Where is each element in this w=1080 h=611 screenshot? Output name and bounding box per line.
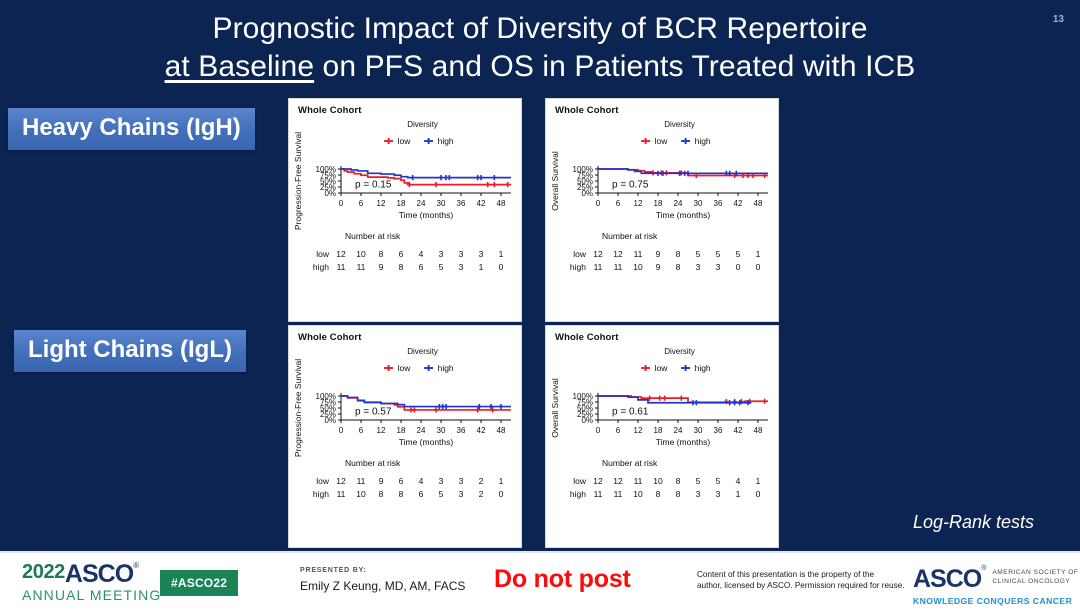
svg-text:high: high <box>570 489 586 499</box>
svg-text:24: 24 <box>417 199 426 208</box>
svg-text:24: 24 <box>674 199 683 208</box>
svg-text:Diversity: Diversity <box>407 347 438 356</box>
title-line-1: Prognostic Impact of Diversity of BCR Re… <box>0 10 1080 48</box>
asco-subtitle: ANNUAL MEETING <box>22 588 161 602</box>
svg-text:10: 10 <box>653 476 663 486</box>
svg-text:12: 12 <box>634 426 643 435</box>
svg-text:12: 12 <box>593 249 603 259</box>
svg-text:0: 0 <box>756 262 761 272</box>
svg-text:Number at risk: Number at risk <box>345 458 401 468</box>
svg-text:4: 4 <box>419 249 424 259</box>
svg-text:6: 6 <box>399 476 404 486</box>
chart-canvas-igl-pfs: Diversitylowhigh0%25%50%75%100%061218243… <box>289 326 521 547</box>
svg-text:3: 3 <box>716 262 721 272</box>
section-label-light-chains: Light Chains (IgL) <box>14 330 246 372</box>
title-line-2: at Baseline on PFS and OS in Patients Tr… <box>0 48 1080 86</box>
svg-text:12: 12 <box>634 199 643 208</box>
svg-text:1: 1 <box>736 489 741 499</box>
svg-text:0: 0 <box>499 262 504 272</box>
svg-text:0: 0 <box>596 199 601 208</box>
svg-text:6: 6 <box>419 262 424 272</box>
svg-text:12: 12 <box>377 426 386 435</box>
asco-tagline: KNOWLEDGE CONQUERS CANCER <box>913 596 1078 606</box>
svg-text:high: high <box>570 262 586 272</box>
svg-text:3: 3 <box>716 489 721 499</box>
svg-text:1: 1 <box>499 476 504 486</box>
svg-text:9: 9 <box>379 476 384 486</box>
svg-text:p = 0.61: p = 0.61 <box>612 407 649 418</box>
svg-text:Overall Survival: Overall Survival <box>550 378 560 438</box>
svg-text:1: 1 <box>499 249 504 259</box>
svg-text:3: 3 <box>459 489 464 499</box>
svg-text:30: 30 <box>437 426 446 435</box>
svg-text:Time (months): Time (months) <box>399 210 454 220</box>
svg-text:48: 48 <box>754 426 763 435</box>
svg-text:6: 6 <box>616 426 621 435</box>
svg-text:Diversity: Diversity <box>664 347 695 356</box>
svg-text:100%: 100% <box>316 392 336 401</box>
svg-text:5: 5 <box>696 249 701 259</box>
svg-text:8: 8 <box>676 249 681 259</box>
svg-text:18: 18 <box>654 199 663 208</box>
registered-mark-icon: ® <box>133 561 139 570</box>
svg-text:11: 11 <box>594 262 603 272</box>
svg-text:low: low <box>573 249 587 259</box>
svg-text:42: 42 <box>477 199 486 208</box>
svg-text:Progression-Free Survival: Progression-Free Survival <box>293 132 303 230</box>
svg-text:0: 0 <box>756 489 761 499</box>
svg-text:10: 10 <box>356 249 366 259</box>
svg-text:8: 8 <box>676 489 681 499</box>
svg-text:0: 0 <box>736 262 741 272</box>
svg-text:36: 36 <box>714 426 723 435</box>
svg-text:p = 0.75: p = 0.75 <box>612 180 649 191</box>
svg-text:4: 4 <box>736 476 741 486</box>
svg-text:48: 48 <box>497 426 506 435</box>
svg-text:12: 12 <box>593 476 603 486</box>
title-underlined-phrase: at Baseline <box>165 50 315 83</box>
svg-text:3: 3 <box>459 249 464 259</box>
svg-text:12: 12 <box>336 249 346 259</box>
asco-society-name: AMERICAN SOCIETY OFCLINICAL ONCOLOGY <box>992 565 1078 586</box>
svg-text:11: 11 <box>634 249 643 259</box>
presented-by-block: PRESENTED BY: Emily Z Keung, MD, AM, FAC… <box>300 567 465 593</box>
svg-text:4: 4 <box>419 476 424 486</box>
svg-text:36: 36 <box>457 426 466 435</box>
svg-text:high: high <box>695 136 711 146</box>
svg-text:9: 9 <box>656 262 661 272</box>
svg-text:18: 18 <box>397 426 406 435</box>
svg-text:42: 42 <box>734 199 743 208</box>
svg-text:18: 18 <box>397 199 406 208</box>
svg-text:24: 24 <box>674 426 683 435</box>
svg-text:6: 6 <box>399 249 404 259</box>
svg-text:low: low <box>398 136 412 146</box>
chart-panel-igl-pfs: Whole Cohort Diversitylowhigh0%25%50%75%… <box>288 325 522 548</box>
society-line-1: AMERICAN SOCIETY OF <box>992 569 1078 576</box>
asco-wordmark: ASCO <box>913 565 981 593</box>
svg-text:Number at risk: Number at risk <box>345 231 401 241</box>
svg-text:3: 3 <box>439 249 444 259</box>
svg-text:5: 5 <box>696 476 701 486</box>
svg-text:24: 24 <box>417 426 426 435</box>
svg-text:8: 8 <box>399 262 404 272</box>
svg-text:11: 11 <box>594 489 603 499</box>
svg-text:11: 11 <box>614 489 623 499</box>
svg-text:3: 3 <box>459 476 464 486</box>
svg-text:Number at risk: Number at risk <box>602 231 658 241</box>
svg-text:1: 1 <box>756 249 761 259</box>
presented-by-label: PRESENTED BY: <box>300 567 465 574</box>
svg-text:6: 6 <box>419 489 424 499</box>
svg-text:30: 30 <box>694 426 703 435</box>
svg-text:42: 42 <box>734 426 743 435</box>
svg-text:48: 48 <box>497 199 506 208</box>
copyright-line-2: author, licensed by ASCO. Permission req… <box>697 580 905 591</box>
svg-text:5: 5 <box>439 489 444 499</box>
chart-canvas-igh-os: Diversitylowhigh0%25%50%75%100%061218243… <box>546 99 778 321</box>
svg-text:6: 6 <box>359 426 364 435</box>
svg-text:10: 10 <box>356 489 366 499</box>
svg-text:10: 10 <box>633 262 643 272</box>
slide-page-number: 13 <box>1053 14 1064 25</box>
asco-year: 2022 <box>22 561 65 583</box>
svg-text:11: 11 <box>357 262 366 272</box>
svg-text:2: 2 <box>479 489 484 499</box>
svg-text:100%: 100% <box>573 165 593 174</box>
svg-text:0: 0 <box>339 426 344 435</box>
svg-text:high: high <box>695 363 711 373</box>
svg-text:low: low <box>655 363 669 373</box>
society-line-2: CLINICAL ONCOLOGY <box>992 578 1070 585</box>
svg-text:low: low <box>398 363 412 373</box>
svg-text:high: high <box>438 363 454 373</box>
svg-text:11: 11 <box>634 476 643 486</box>
chart-panel-igh-os: Whole Cohort Diversitylowhigh0%25%50%75%… <box>545 98 779 322</box>
asco-wordmark: ASCO <box>65 560 133 588</box>
presenter-name: Emily Z Keung, MD, AM, FACS <box>300 579 465 593</box>
svg-text:3: 3 <box>696 489 701 499</box>
asco-annual-meeting-logo: 2022ASCO® ANNUAL MEETING <box>22 562 161 602</box>
slide-footer: 2022ASCO® ANNUAL MEETING #ASCO22 PRESENT… <box>0 551 1080 611</box>
svg-text:12: 12 <box>613 249 623 259</box>
svg-text:low: low <box>316 476 330 486</box>
svg-text:8: 8 <box>676 476 681 486</box>
svg-text:high: high <box>313 489 329 499</box>
chart-canvas-igl-os: Diversitylowhigh0%25%50%75%100%061218243… <box>546 326 778 547</box>
svg-text:100%: 100% <box>573 392 593 401</box>
svg-text:Time (months): Time (months) <box>656 210 711 220</box>
svg-text:high: high <box>438 136 454 146</box>
svg-text:low: low <box>573 476 587 486</box>
title-line-2-rest: on PFS and OS in Patients Treated with I… <box>314 50 915 83</box>
svg-text:9: 9 <box>379 262 384 272</box>
svg-text:42: 42 <box>477 426 486 435</box>
svg-text:8: 8 <box>399 489 404 499</box>
svg-text:30: 30 <box>694 199 703 208</box>
copyright-notice: Content of this presentation is the prop… <box>697 569 905 591</box>
svg-text:p = 0.57: p = 0.57 <box>355 407 392 418</box>
section-label-heavy-chains: Heavy Chains (IgH) <box>8 108 255 150</box>
svg-text:0: 0 <box>339 199 344 208</box>
log-rank-tests-note: Log-Rank tests <box>913 512 1034 533</box>
svg-text:Number at risk: Number at risk <box>602 458 658 468</box>
svg-text:Time (months): Time (months) <box>399 437 454 447</box>
svg-text:11: 11 <box>337 262 346 272</box>
svg-text:Overall Survival: Overall Survival <box>550 151 560 211</box>
svg-text:11: 11 <box>614 262 623 272</box>
svg-text:0: 0 <box>499 489 504 499</box>
svg-text:3: 3 <box>459 262 464 272</box>
svg-text:11: 11 <box>357 476 366 486</box>
chart-panel-igh-pfs: Whole Cohort Diversitylowhigh0%25%50%75%… <box>288 98 522 322</box>
svg-text:low: low <box>655 136 669 146</box>
svg-text:12: 12 <box>336 476 346 486</box>
svg-text:48: 48 <box>754 199 763 208</box>
registered-mark-icon: ® <box>981 565 986 572</box>
svg-text:Time (months): Time (months) <box>656 437 711 447</box>
svg-text:Diversity: Diversity <box>664 120 695 129</box>
svg-text:8: 8 <box>676 262 681 272</box>
svg-text:1: 1 <box>479 262 484 272</box>
svg-text:12: 12 <box>377 199 386 208</box>
copyright-line-1: Content of this presentation is the prop… <box>697 569 905 580</box>
svg-text:18: 18 <box>654 426 663 435</box>
svg-text:3: 3 <box>479 249 484 259</box>
svg-text:10: 10 <box>633 489 643 499</box>
chart-panel-igl-os: Whole Cohort Diversitylowhigh0%25%50%75%… <box>545 325 779 548</box>
svg-text:9: 9 <box>656 249 661 259</box>
svg-text:p = 0.15: p = 0.15 <box>355 180 392 191</box>
svg-text:3: 3 <box>696 262 701 272</box>
svg-text:0: 0 <box>596 426 601 435</box>
svg-text:8: 8 <box>379 249 384 259</box>
svg-text:6: 6 <box>616 199 621 208</box>
chart-canvas-igh-pfs: Diversitylowhigh0%25%50%75%100%061218243… <box>289 99 521 321</box>
hashtag-badge: #ASCO22 <box>160 570 238 596</box>
svg-text:6: 6 <box>359 199 364 208</box>
slide-root: Prognostic Impact of Diversity of BCR Re… <box>0 0 1080 611</box>
do-not-post-warning: Do not post <box>494 565 631 594</box>
svg-text:1: 1 <box>756 476 761 486</box>
svg-text:5: 5 <box>736 249 741 259</box>
svg-text:3: 3 <box>439 476 444 486</box>
svg-text:5: 5 <box>716 249 721 259</box>
svg-text:Diversity: Diversity <box>407 120 438 129</box>
svg-text:12: 12 <box>613 476 623 486</box>
svg-text:5: 5 <box>439 262 444 272</box>
svg-text:Progression-Free Survival: Progression-Free Survival <box>293 359 303 457</box>
svg-text:low: low <box>316 249 330 259</box>
svg-text:36: 36 <box>714 199 723 208</box>
svg-text:2: 2 <box>479 476 484 486</box>
svg-text:30: 30 <box>437 199 446 208</box>
svg-text:8: 8 <box>379 489 384 499</box>
svg-text:8: 8 <box>656 489 661 499</box>
asco-society-logo: ASCO®AMERICAN SOCIETY OFCLINICAL ONCOLOG… <box>913 565 1078 606</box>
svg-text:11: 11 <box>337 489 346 499</box>
svg-text:high: high <box>313 262 329 272</box>
svg-text:5: 5 <box>716 476 721 486</box>
svg-text:100%: 100% <box>316 165 336 174</box>
svg-text:36: 36 <box>457 199 466 208</box>
page-title: Prognostic Impact of Diversity of BCR Re… <box>0 10 1080 86</box>
